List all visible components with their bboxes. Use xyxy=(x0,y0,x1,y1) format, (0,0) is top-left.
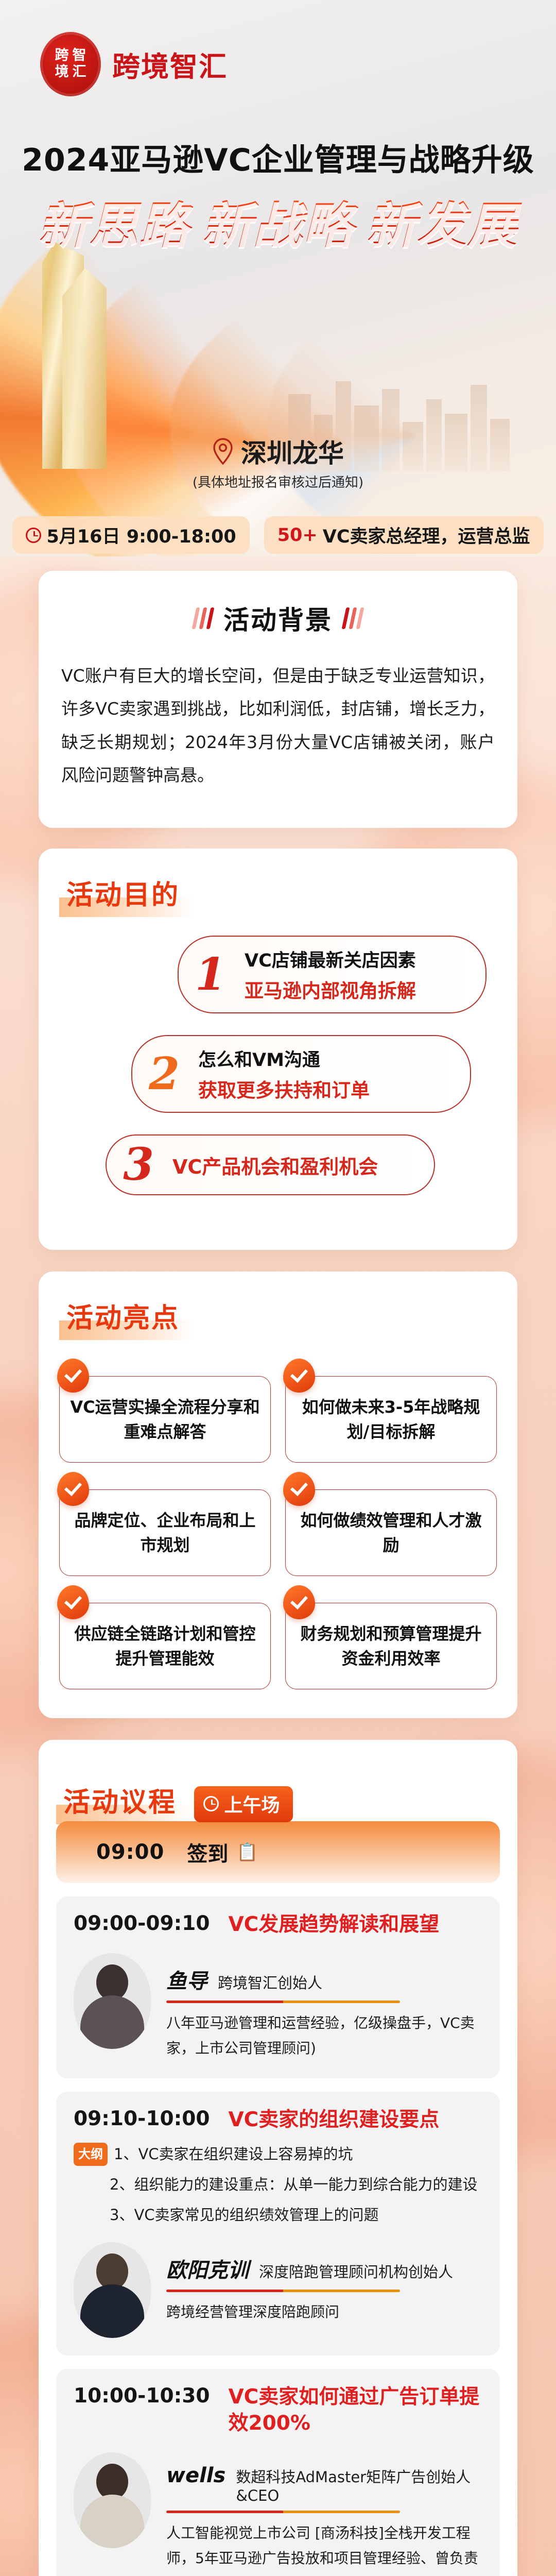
highlights-title: 活动亮点 xyxy=(59,1294,193,1340)
highlight-text: 如何做绩效管理和人才激励 xyxy=(295,1508,487,1557)
check-icon xyxy=(283,1585,315,1619)
slot-title: VC卖家如何通过广告订单提效200% xyxy=(228,2384,482,2436)
seal-char: 境 xyxy=(53,64,71,81)
hero-info-pills: 5月16日 9:00-18:00 50+ VC卖家总经理，运营总监 xyxy=(0,516,556,554)
clock-icon xyxy=(203,1796,219,1811)
clock-icon xyxy=(26,528,41,543)
purpose-item-top: VC店铺最新关店因素 xyxy=(245,946,416,972)
date-pill: 5月16日 9:00-18:00 xyxy=(12,516,249,554)
outline-line: 2、组织能力的建设重点：从单一能力到综合能力的建设 xyxy=(110,2173,477,2196)
location-name: 深圳龙华 xyxy=(241,433,344,470)
purpose-item: 1 VC店铺最新关店因素 亚马逊内部视角拆解 xyxy=(178,936,486,1013)
purpose-list: 1 VC店铺最新关店因素 亚马逊内部视角拆解 2 怎么和VM沟通 获取更多扶持和… xyxy=(59,936,497,1195)
highlight-text: 供应链全链路计划和管控提升管理能效 xyxy=(69,1621,261,1671)
purpose-item-bottom: 获取更多扶持和订单 xyxy=(198,1075,370,1103)
highlight-text: 财务规划和预算管理提升资金利用效率 xyxy=(295,1621,487,1671)
background-header: 活动背景 xyxy=(61,600,495,637)
speaker-divider xyxy=(166,2290,400,2292)
avatar xyxy=(74,2242,151,2338)
checkin-time: 09:00 xyxy=(96,1840,164,1864)
outline-badge: 大纲 xyxy=(74,2143,108,2166)
avatar xyxy=(74,2452,151,2548)
check-icon xyxy=(283,1472,315,1506)
seal-char: 智 xyxy=(71,48,88,64)
highlight-item: 财务规划和预算管理提升资金利用效率 xyxy=(285,1594,497,1689)
speaker-role: 跨境智汇创始人 xyxy=(218,1971,322,1993)
slot-time: 10:00-10:30 xyxy=(74,2384,210,2408)
check-icon xyxy=(57,1585,89,1619)
hero-slogan: 新思路 新战略 新发展 xyxy=(0,185,556,257)
speaker-role: 深度陪跑管理顾问机构创始人 xyxy=(259,2260,453,2282)
agenda-card: 活动议程 上午场 09:00 签到 📋 09:00-09:10 VC发展趋势解读… xyxy=(39,1740,517,2576)
slot-time: 09:00-09:10 xyxy=(74,1912,210,1935)
speaker-block: 鱼导 跨境智汇创始人 八年亚马逊管理和运营经验，亿级操盘手，VC卖家，上市公司管… xyxy=(74,1953,482,2061)
purpose-item: 3 VC产品机会和盈利机会 xyxy=(106,1134,435,1195)
speaker-divider xyxy=(166,2001,400,2003)
bars-right-icon xyxy=(344,607,362,629)
background-title: 活动背景 xyxy=(223,600,333,637)
location-note: (具体地址报名审核过后通知) xyxy=(0,472,556,491)
speaker-bio: 人工智能视觉上市公司 [商汤科技]全栈开发工程师，5年亚马逊广告投放和项目管理经… xyxy=(166,2520,482,2576)
highlight-text: 品牌定位、企业布局和上市规划 xyxy=(69,1508,261,1557)
location-pin-icon xyxy=(212,438,234,465)
purpose-number: 1 xyxy=(190,955,231,994)
purpose-number: 3 xyxy=(118,1145,159,1184)
purpose-item-top: 怎么和VM沟通 xyxy=(198,1045,370,1072)
highlight-item: VC运营实操全流程分享和重难点解答 xyxy=(59,1367,271,1463)
date-text: 5月16日 9:00-18:00 xyxy=(46,522,236,548)
purpose-number: 2 xyxy=(144,1054,185,1094)
check-icon xyxy=(57,1359,89,1393)
speaker-name: 鱼导 xyxy=(166,1964,207,1994)
purpose-card: 活动目的 1 VC店铺最新关店因素 亚马逊内部视角拆解 2 怎么和VM沟通 获取… xyxy=(39,849,517,1249)
slogan-part: 新思路 xyxy=(33,185,195,257)
page-title: 2024亚马逊VC企业管理与战略升级 xyxy=(0,135,556,180)
avatar xyxy=(74,1953,151,2049)
checkin-band: 09:00 签到 📋 xyxy=(56,1821,500,1883)
purpose-title: 活动目的 xyxy=(59,871,193,917)
purpose-item: 2 怎么和VM沟通 获取更多扶持和订单 xyxy=(131,1035,471,1113)
speaker-bio: 跨境经营管理深度陪跑顾问 xyxy=(166,2299,482,2325)
agenda-title: 活动议程 xyxy=(56,1778,190,1824)
slogan-part: 新战略 xyxy=(197,185,359,257)
highlight-item: 供应链全链路计划和管控提升管理能效 xyxy=(59,1594,271,1689)
brand-name: 跨境智汇 xyxy=(112,44,228,84)
highlights-grid: VC运营实操全流程分享和重难点解答 如何做未来3-5年战略规划/目标拆解 品牌定… xyxy=(59,1367,497,1689)
highlight-item: 如何做未来3-5年战略规划/目标拆解 xyxy=(285,1367,497,1463)
highlights-card: 活动亮点 VC运营实操全流程分享和重难点解答 如何做未来3-5年战略规划/目标拆… xyxy=(39,1272,517,1718)
audience-count: 50+ xyxy=(277,525,318,546)
outline-line: 3、VC卖家常见的组织绩效管理上的问题 xyxy=(110,2204,379,2227)
slogan-part: 新发展 xyxy=(361,185,523,257)
checkin-label: 签到 xyxy=(187,1837,228,1867)
outline-line: 1、VC卖家在组织建设上容易掉的坑 xyxy=(114,2143,353,2166)
slot-title: VC发展趋势解读和展望 xyxy=(228,1912,439,1938)
agenda-slot: 09:00-09:10 VC发展趋势解读和展望 鱼导 跨境智汇创始人 八年亚马逊… xyxy=(56,1896,500,2079)
clipboard-icon: 📋 xyxy=(236,1842,258,1862)
speaker-name: 欧阳克训 xyxy=(166,2253,249,2283)
agenda-slot: 10:00-10:30 VC卖家如何通过广告订单提效200% wells 数超科… xyxy=(56,2369,500,2576)
check-icon xyxy=(283,1359,315,1393)
background-body: VC账户有巨大的增长空间，但是由于缺乏专业运营知识，许多VC卖家遇到挑战，比如利… xyxy=(61,659,495,792)
speaker-divider xyxy=(166,2511,400,2513)
speaker-block: 欧阳克训 深度陪跑管理顾问机构创始人 跨境经营管理深度陪跑顾问 xyxy=(74,2242,482,2338)
audience-text: VC卖家总经理，运营总监 xyxy=(323,522,530,548)
morning-session-tag: 上午场 xyxy=(194,1786,293,1822)
highlight-item: 品牌定位、企业布局和上市规划 xyxy=(59,1480,271,1576)
seal-char: 汇 xyxy=(71,64,88,81)
bars-left-icon xyxy=(194,607,212,629)
background-card: 活动背景 VC账户有巨大的增长空间，但是由于缺乏专业运营知识，许多VC卖家遇到挑… xyxy=(39,571,517,828)
seal-char: 跨 xyxy=(53,48,71,64)
hero-banner: 跨 智 境 汇 跨境智汇 2024亚马逊VC企业管理与战略升级 新思路 新战略 … xyxy=(0,0,556,556)
location-block: 深圳龙华 (具体地址报名审核过后通知) xyxy=(0,433,556,491)
highlight-item: 如何做绩效管理和人才激励 xyxy=(285,1480,497,1576)
slot-outline: 大纲 1、VC卖家在组织建设上容易掉的坑 2、组织能力的建设重点：从单一能力到综… xyxy=(74,2143,482,2227)
speaker-role: 数超科技AdMaster矩阵广告创始人&CEO xyxy=(236,2465,482,2504)
morning-label: 上午场 xyxy=(224,1790,280,1817)
highlight-text: VC运营实操全流程分享和重难点解答 xyxy=(69,1395,261,1444)
purpose-item-bottom: 亚马逊内部视角拆解 xyxy=(245,975,416,1003)
brand-lockup: 跨 智 境 汇 跨境智汇 xyxy=(40,32,228,96)
audience-pill: 50+ VC卖家总经理，运营总监 xyxy=(264,516,544,554)
agenda-slot: 09:10-10:00 VC卖家的组织建设要点 大纲 1、VC卖家在组织建设上容… xyxy=(56,2092,500,2355)
slot-title: VC卖家的组织建设要点 xyxy=(228,2107,439,2133)
speaker-block: wells 数超科技AdMaster矩阵广告创始人&CEO 人工智能视觉上市公司… xyxy=(74,2452,482,2576)
speaker-bio: 八年亚马逊管理和运营经验，亿级操盘手，VC卖家，上市公司管理顾问) xyxy=(166,2010,482,2061)
brand-seal-icon: 跨 智 境 汇 xyxy=(40,32,101,96)
purpose-item-bottom: VC产品机会和盈利机会 xyxy=(172,1151,378,1179)
check-icon xyxy=(57,1472,89,1506)
slot-time: 09:10-10:00 xyxy=(74,2107,210,2130)
highlight-text: 如何做未来3-5年战略规划/目标拆解 xyxy=(295,1395,487,1444)
speaker-name: wells xyxy=(166,2464,225,2487)
